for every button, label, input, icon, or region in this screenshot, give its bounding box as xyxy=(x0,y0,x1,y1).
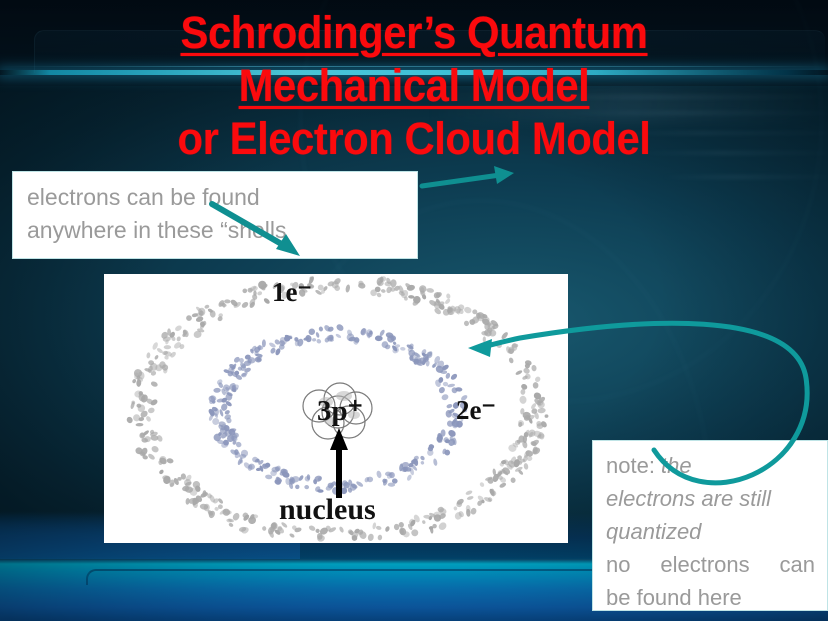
arrow-note-to-shell xyxy=(468,323,807,483)
arrow-title-to-right xyxy=(422,166,514,186)
arrow-shells-to-diagram xyxy=(212,204,300,256)
annotation-arrow-layer xyxy=(0,0,828,621)
slide-canvas: Schrodinger’s Quantum Mechanical Model o… xyxy=(0,0,828,621)
